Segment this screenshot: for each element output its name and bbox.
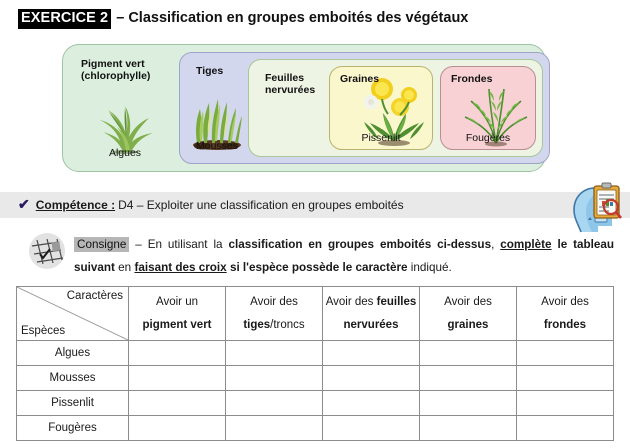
- row-header-algues: Algues: [17, 341, 129, 366]
- cell-algues-pigment-vert[interactable]: [129, 341, 226, 366]
- group-label-frondes: Frondes: [451, 73, 492, 85]
- competence-row: ✔ Compétence : D4 – Exploiter une classi…: [18, 196, 404, 213]
- group-graines: Graines: [329, 66, 433, 150]
- consigne-part-10: indiqué.: [411, 261, 452, 274]
- cell-pissenlit-graines[interactable]: [420, 391, 517, 416]
- table-corner-cell: Caractères Espèces: [17, 287, 129, 341]
- cell-fougeres-pigment-vert[interactable]: [129, 416, 226, 441]
- cell-fougeres-graines[interactable]: [420, 416, 517, 441]
- corner-label-especes: Espèces: [21, 325, 65, 337]
- table-check-icon: [28, 232, 66, 270]
- cell-mousses-frondes[interactable]: [517, 366, 614, 391]
- row-header-mousses: Mousses: [17, 366, 129, 391]
- group-feuilles-content: Feuilles nervurées: [255, 66, 329, 150]
- consigne-part-7: en: [118, 261, 131, 274]
- consigne-part-5: le: [557, 238, 567, 251]
- col3-line1a: Avoir des: [326, 296, 377, 308]
- species-name-fougeres: Fougères: [441, 132, 535, 144]
- group-pigment-vert-content: Pigment vert (chlorophylle) Algues: [71, 52, 179, 164]
- consigne-text: Consigne – En utilisant la classificatio…: [74, 234, 614, 280]
- table-row: Mousses: [17, 366, 614, 391]
- exercise-number-tag: EXERCICE 2: [18, 9, 111, 29]
- row-header-pissenlit: Pissenlit: [17, 391, 129, 416]
- col2-line2a: tiges: [243, 319, 270, 331]
- cell-mousses-feuilles[interactable]: [323, 366, 420, 391]
- consigne-part-8: faisant des croix: [134, 261, 226, 274]
- cell-pissenlit-feuilles[interactable]: [323, 391, 420, 416]
- col2-line1: Avoir des: [250, 296, 298, 308]
- consigne-dash: –: [135, 238, 142, 251]
- col1-line2: pigment vert: [142, 319, 211, 331]
- cell-pissenlit-pigment-vert[interactable]: [129, 391, 226, 416]
- table-header-row: Caractères Espèces Avoir un pigment vert…: [17, 287, 614, 341]
- col5-line2: frondes: [544, 319, 586, 331]
- species-name-mousses: Mousses: [186, 140, 248, 152]
- corner-label-caracteres: Caractères: [67, 290, 123, 302]
- column-header-frondes: Avoir des frondes: [517, 287, 614, 341]
- column-header-tiges-troncs: Avoir des tiges/troncs: [226, 287, 323, 341]
- cell-mousses-pigment-vert[interactable]: [129, 366, 226, 391]
- col2-line2b: /troncs: [270, 319, 305, 331]
- col3-line2: nervurées: [344, 319, 399, 331]
- cell-fougeres-frondes[interactable]: [517, 416, 614, 441]
- consigne-tag: Consigne: [74, 237, 129, 252]
- column-header-pigment-vert: Avoir un pigment vert: [129, 287, 226, 341]
- cell-algues-graines[interactable]: [420, 341, 517, 366]
- consigne-part-3: ,: [491, 238, 494, 251]
- consigne-part-2: classification en groupes emboités ci-de…: [228, 238, 491, 251]
- cell-pissenlit-tiges[interactable]: [226, 391, 323, 416]
- row-header-fougeres: Fougères: [17, 416, 129, 441]
- cell-fougeres-tiges[interactable]: [226, 416, 323, 441]
- consigne-part-1: En utilisant la: [148, 238, 223, 251]
- group-label-tiges: Tiges: [196, 65, 223, 77]
- cell-mousses-graines[interactable]: [420, 366, 517, 391]
- table-row: Fougères: [17, 416, 614, 441]
- column-header-feuilles-nervurees: Avoir des feuilles nervurées: [323, 287, 420, 341]
- col4-line2: graines: [448, 319, 489, 331]
- algae-illustration: [89, 96, 161, 154]
- col3-line1b: feuilles: [377, 296, 417, 308]
- table-row: Algues: [17, 341, 614, 366]
- page-title: EXERCICE 2 – Classification en groupes e…: [18, 9, 468, 29]
- group-label-feuilles-nervurees: Feuilles nervurées: [265, 72, 315, 97]
- cell-algues-feuilles[interactable]: [323, 341, 420, 366]
- head-clipboard-icon: [568, 182, 622, 234]
- consigne-part-9: si l'espèce possède le caractère: [230, 261, 408, 274]
- col1-line1: Avoir un: [156, 296, 198, 308]
- characters-species-table: Caractères Espèces Avoir un pigment vert…: [16, 286, 614, 441]
- cell-fougeres-feuilles[interactable]: [323, 416, 420, 441]
- group-tiges-content: Tiges: [186, 59, 248, 157]
- check-icon: ✔: [18, 196, 30, 213]
- page-title-text: – Classification en groupes emboités des…: [116, 10, 468, 26]
- cell-algues-tiges[interactable]: [226, 341, 323, 366]
- col4-line1: Avoir des: [444, 296, 492, 308]
- species-name-pissenlit: Pissenlit: [330, 132, 432, 144]
- competence-text: D4 – Exploiter une classification en gro…: [118, 198, 404, 212]
- species-name-algues: Algues: [71, 147, 179, 159]
- competence-label: Compétence :: [36, 198, 115, 212]
- group-tiges: Tiges: [179, 52, 550, 164]
- nested-groups-diagram: Pigment vert (chlorophylle) Algues Tiges: [62, 44, 546, 172]
- table-row: Pissenlit: [17, 391, 614, 416]
- cell-mousses-tiges[interactable]: [226, 366, 323, 391]
- group-label-pigment-vert: Pigment vert (chlorophylle): [81, 58, 150, 83]
- cell-algues-frondes[interactable]: [517, 341, 614, 366]
- group-frondes: Frondes: [440, 66, 536, 150]
- group-feuilles-nervurees: Feuilles nervurées Graines: [248, 59, 543, 157]
- group-label-graines: Graines: [340, 73, 379, 85]
- cell-pissenlit-frondes[interactable]: [517, 391, 614, 416]
- col5-line1: Avoir des: [541, 296, 589, 308]
- consigne-part-4: complète: [500, 238, 551, 251]
- column-header-graines: Avoir des graines: [420, 287, 517, 341]
